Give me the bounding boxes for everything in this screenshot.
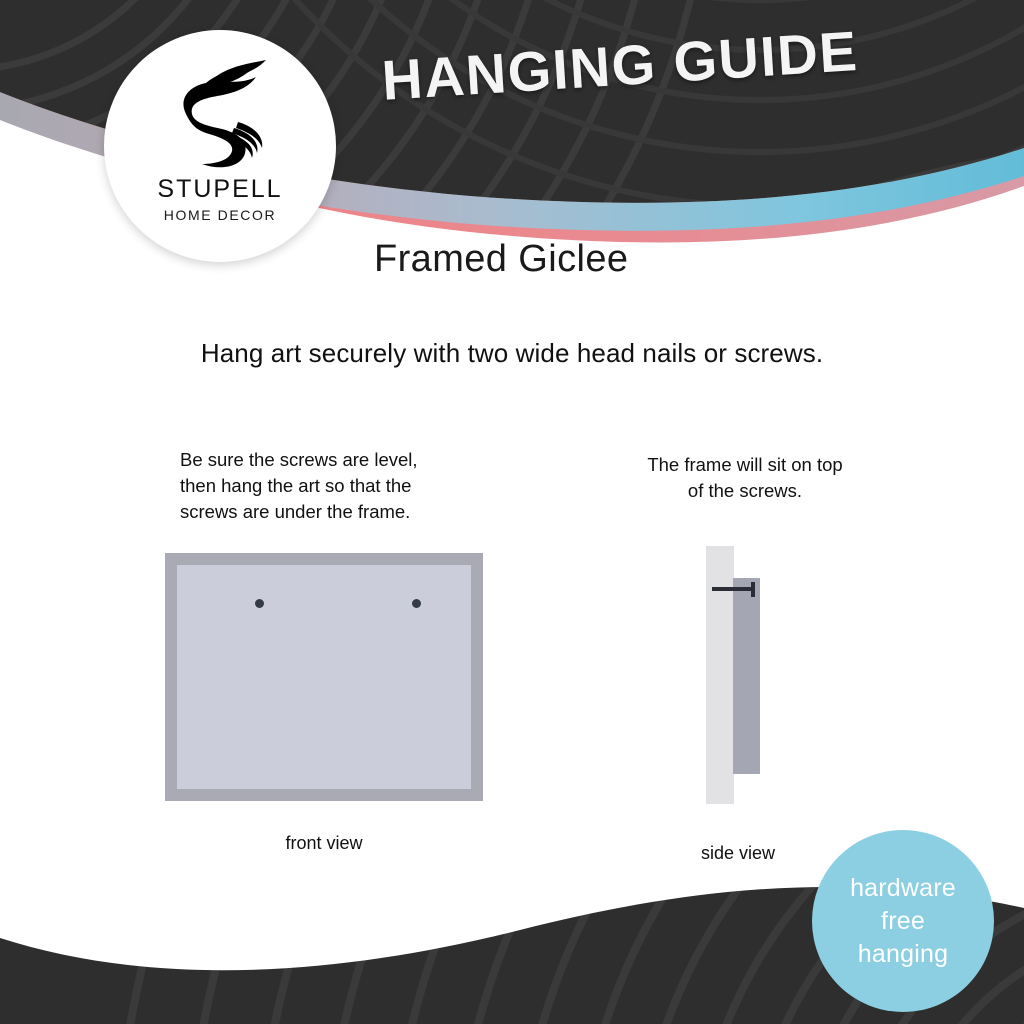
product-type-label: Framed Giclee <box>374 238 628 281</box>
hanging-guide-page: STUPELL HOME DECOR HANGING GUIDE Framed … <box>0 0 1024 1024</box>
badge-line: free <box>881 905 925 938</box>
badge-line: hanging <box>858 938 948 971</box>
badge-line: hardware <box>850 872 956 905</box>
side-view-diagram <box>706 546 770 804</box>
logo-sub-wordmark: HOME DECOR <box>164 207 276 223</box>
screw-hole-right-icon <box>412 599 421 608</box>
side-view-wall <box>706 546 734 804</box>
nail-head-icon <box>751 582 755 597</box>
front-view-diagram <box>165 553 483 801</box>
side-view-caption: The frame will sit on top of the screws. <box>600 452 890 504</box>
front-view-art-area <box>177 565 471 789</box>
caption-line: screws are under the frame. <box>180 499 480 525</box>
side-view-frame <box>733 578 760 774</box>
side-view-label: side view <box>640 843 836 864</box>
nail-shaft-icon <box>712 587 754 591</box>
stupell-swoosh-logo-icon <box>160 52 280 170</box>
screw-hole-left-icon <box>255 599 264 608</box>
caption-line: The frame will sit on top <box>600 452 890 478</box>
front-view-caption: Be sure the screws are level, then hang … <box>180 447 480 525</box>
hardware-free-hanging-badge: hardware free hanging <box>812 830 994 1012</box>
page-title: HANGING GUIDE <box>380 18 860 113</box>
caption-line: Be sure the screws are level, <box>180 447 480 473</box>
caption-line: then hang the art so that the <box>180 473 480 499</box>
caption-line: of the screws. <box>600 478 890 504</box>
brand-logo-badge: STUPELL HOME DECOR <box>104 30 336 262</box>
main-instruction-text: Hang art securely with two wide head nai… <box>0 338 1024 369</box>
logo-wordmark: STUPELL <box>157 175 282 204</box>
front-view-label: front view <box>165 833 483 854</box>
